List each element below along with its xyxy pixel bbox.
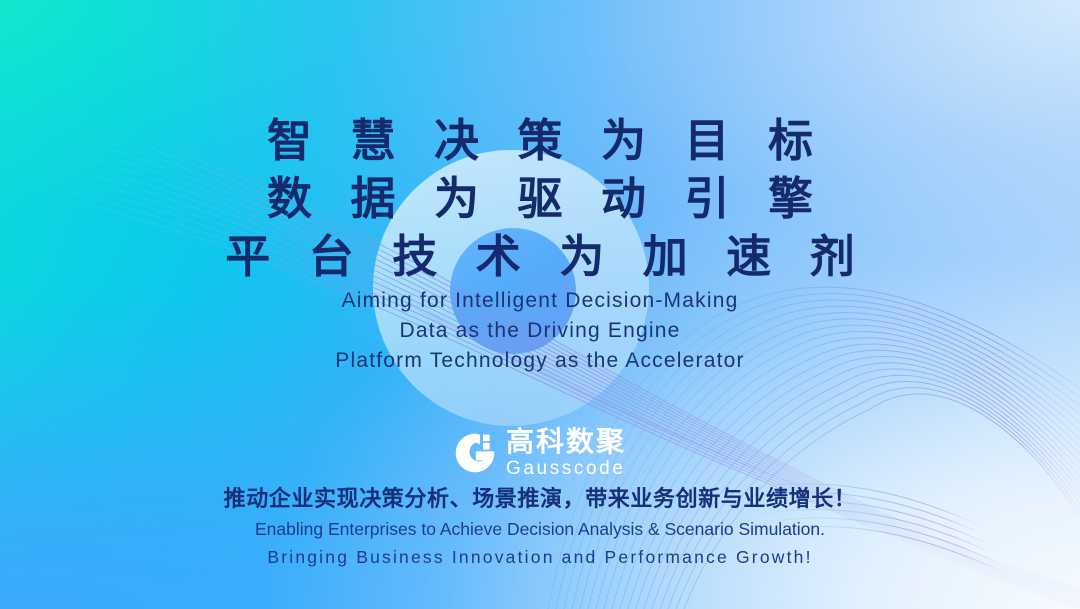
gausscode-g-icon xyxy=(454,432,496,474)
brand-name-en: Gausscode xyxy=(506,459,626,478)
subheadline-line-3: Platform Technology as the Accelerator xyxy=(0,346,1080,376)
headline-line-3: 平 台 技 术 为 加 速 剂 xyxy=(0,228,1080,286)
tagline-block: 推动企业实现决策分析、场景推演，带来业务创新与业绩增长！ Enabling En… xyxy=(0,484,1080,570)
brand-logo: 高科数聚 Gausscode xyxy=(0,428,1080,478)
brand-name-cn: 高科数聚 xyxy=(506,428,626,456)
tagline-english-line-1: Enabling Enterprises to Achieve Decision… xyxy=(0,517,1080,542)
subheadline-line-2: Data as the Driving Engine xyxy=(0,316,1080,346)
brand-logo-text: 高科数聚 Gausscode xyxy=(506,428,626,478)
tagline-english-line-2: Bringing Business Innovation and Perform… xyxy=(0,545,1080,570)
poster-content: 智 慧 决 策 为 目 标 数 据 为 驱 动 引 擎 平 台 技 术 为 加 … xyxy=(0,0,1080,609)
subheadline-line-1: Aiming for Intelligent Decision-Making xyxy=(0,286,1080,316)
headline-line-2: 数 据 为 驱 动 引 擎 xyxy=(0,170,1080,228)
tagline-chinese: 推动企业实现决策分析、场景推演，带来业务创新与业绩增长！ xyxy=(0,484,1080,514)
poster-canvas: 智 慧 决 策 为 目 标 数 据 为 驱 动 引 擎 平 台 技 术 为 加 … xyxy=(0,0,1080,609)
headline-block: 智 慧 决 策 为 目 标 数 据 为 驱 动 引 擎 平 台 技 术 为 加 … xyxy=(0,112,1080,286)
subheadline-block: Aiming for Intelligent Decision-Making D… xyxy=(0,286,1080,376)
headline-line-1: 智 慧 决 策 为 目 标 xyxy=(0,112,1080,170)
